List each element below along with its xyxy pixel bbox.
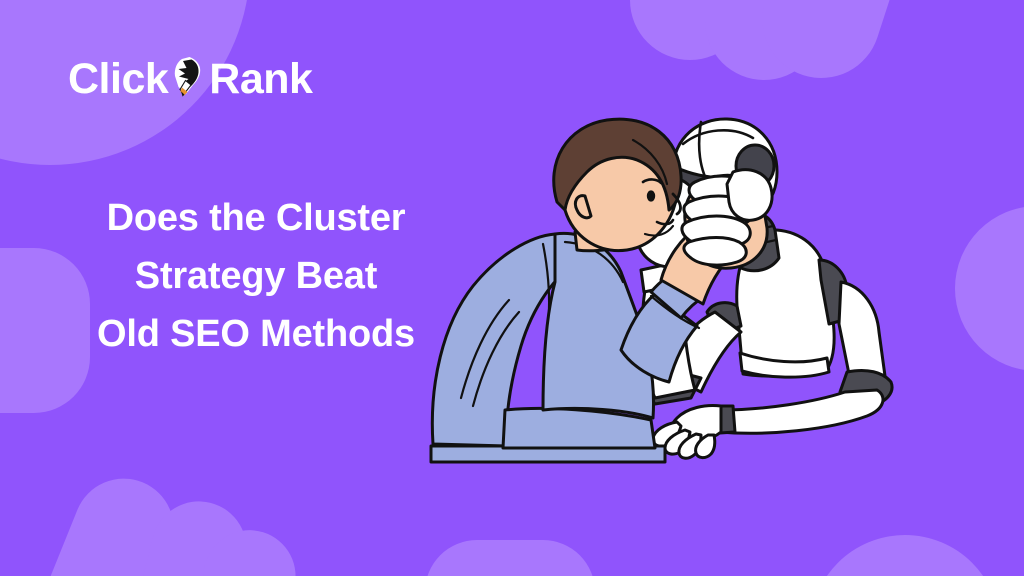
decorative-blob-top-1 [630, 0, 750, 60]
decorative-blob-top-2 [705, 0, 823, 80]
cursor-pencil-icon [165, 54, 211, 100]
decorative-blob-bottom-1 [21, 464, 189, 576]
logo-word-rank: Rank [209, 58, 312, 101]
decorative-blob-bottom-4 [425, 540, 595, 576]
decorative-blob-bottom-2 [118, 491, 256, 576]
headline-line-1: Does the Cluster [56, 190, 456, 248]
brand-logo[interactable]: Click Rank [68, 50, 312, 108]
headline-line-3: Old SEO Methods [56, 306, 456, 364]
headline-line-2: Strategy Beat [56, 248, 456, 306]
human-vs-robot-arm-wrestling-illustration [415, 110, 1015, 470]
decorative-blob-bottom-5 [810, 535, 1000, 576]
banner-headline: Does the Cluster Strategy Beat Old SEO M… [56, 190, 456, 363]
blog-banner: Click Rank Does the Cluster Strategy Bea… [0, 0, 1024, 576]
decorative-blob-bottom-3 [192, 526, 300, 576]
decorative-blob-top-3 [747, 0, 921, 93]
logo-word-click: Click [68, 58, 168, 101]
